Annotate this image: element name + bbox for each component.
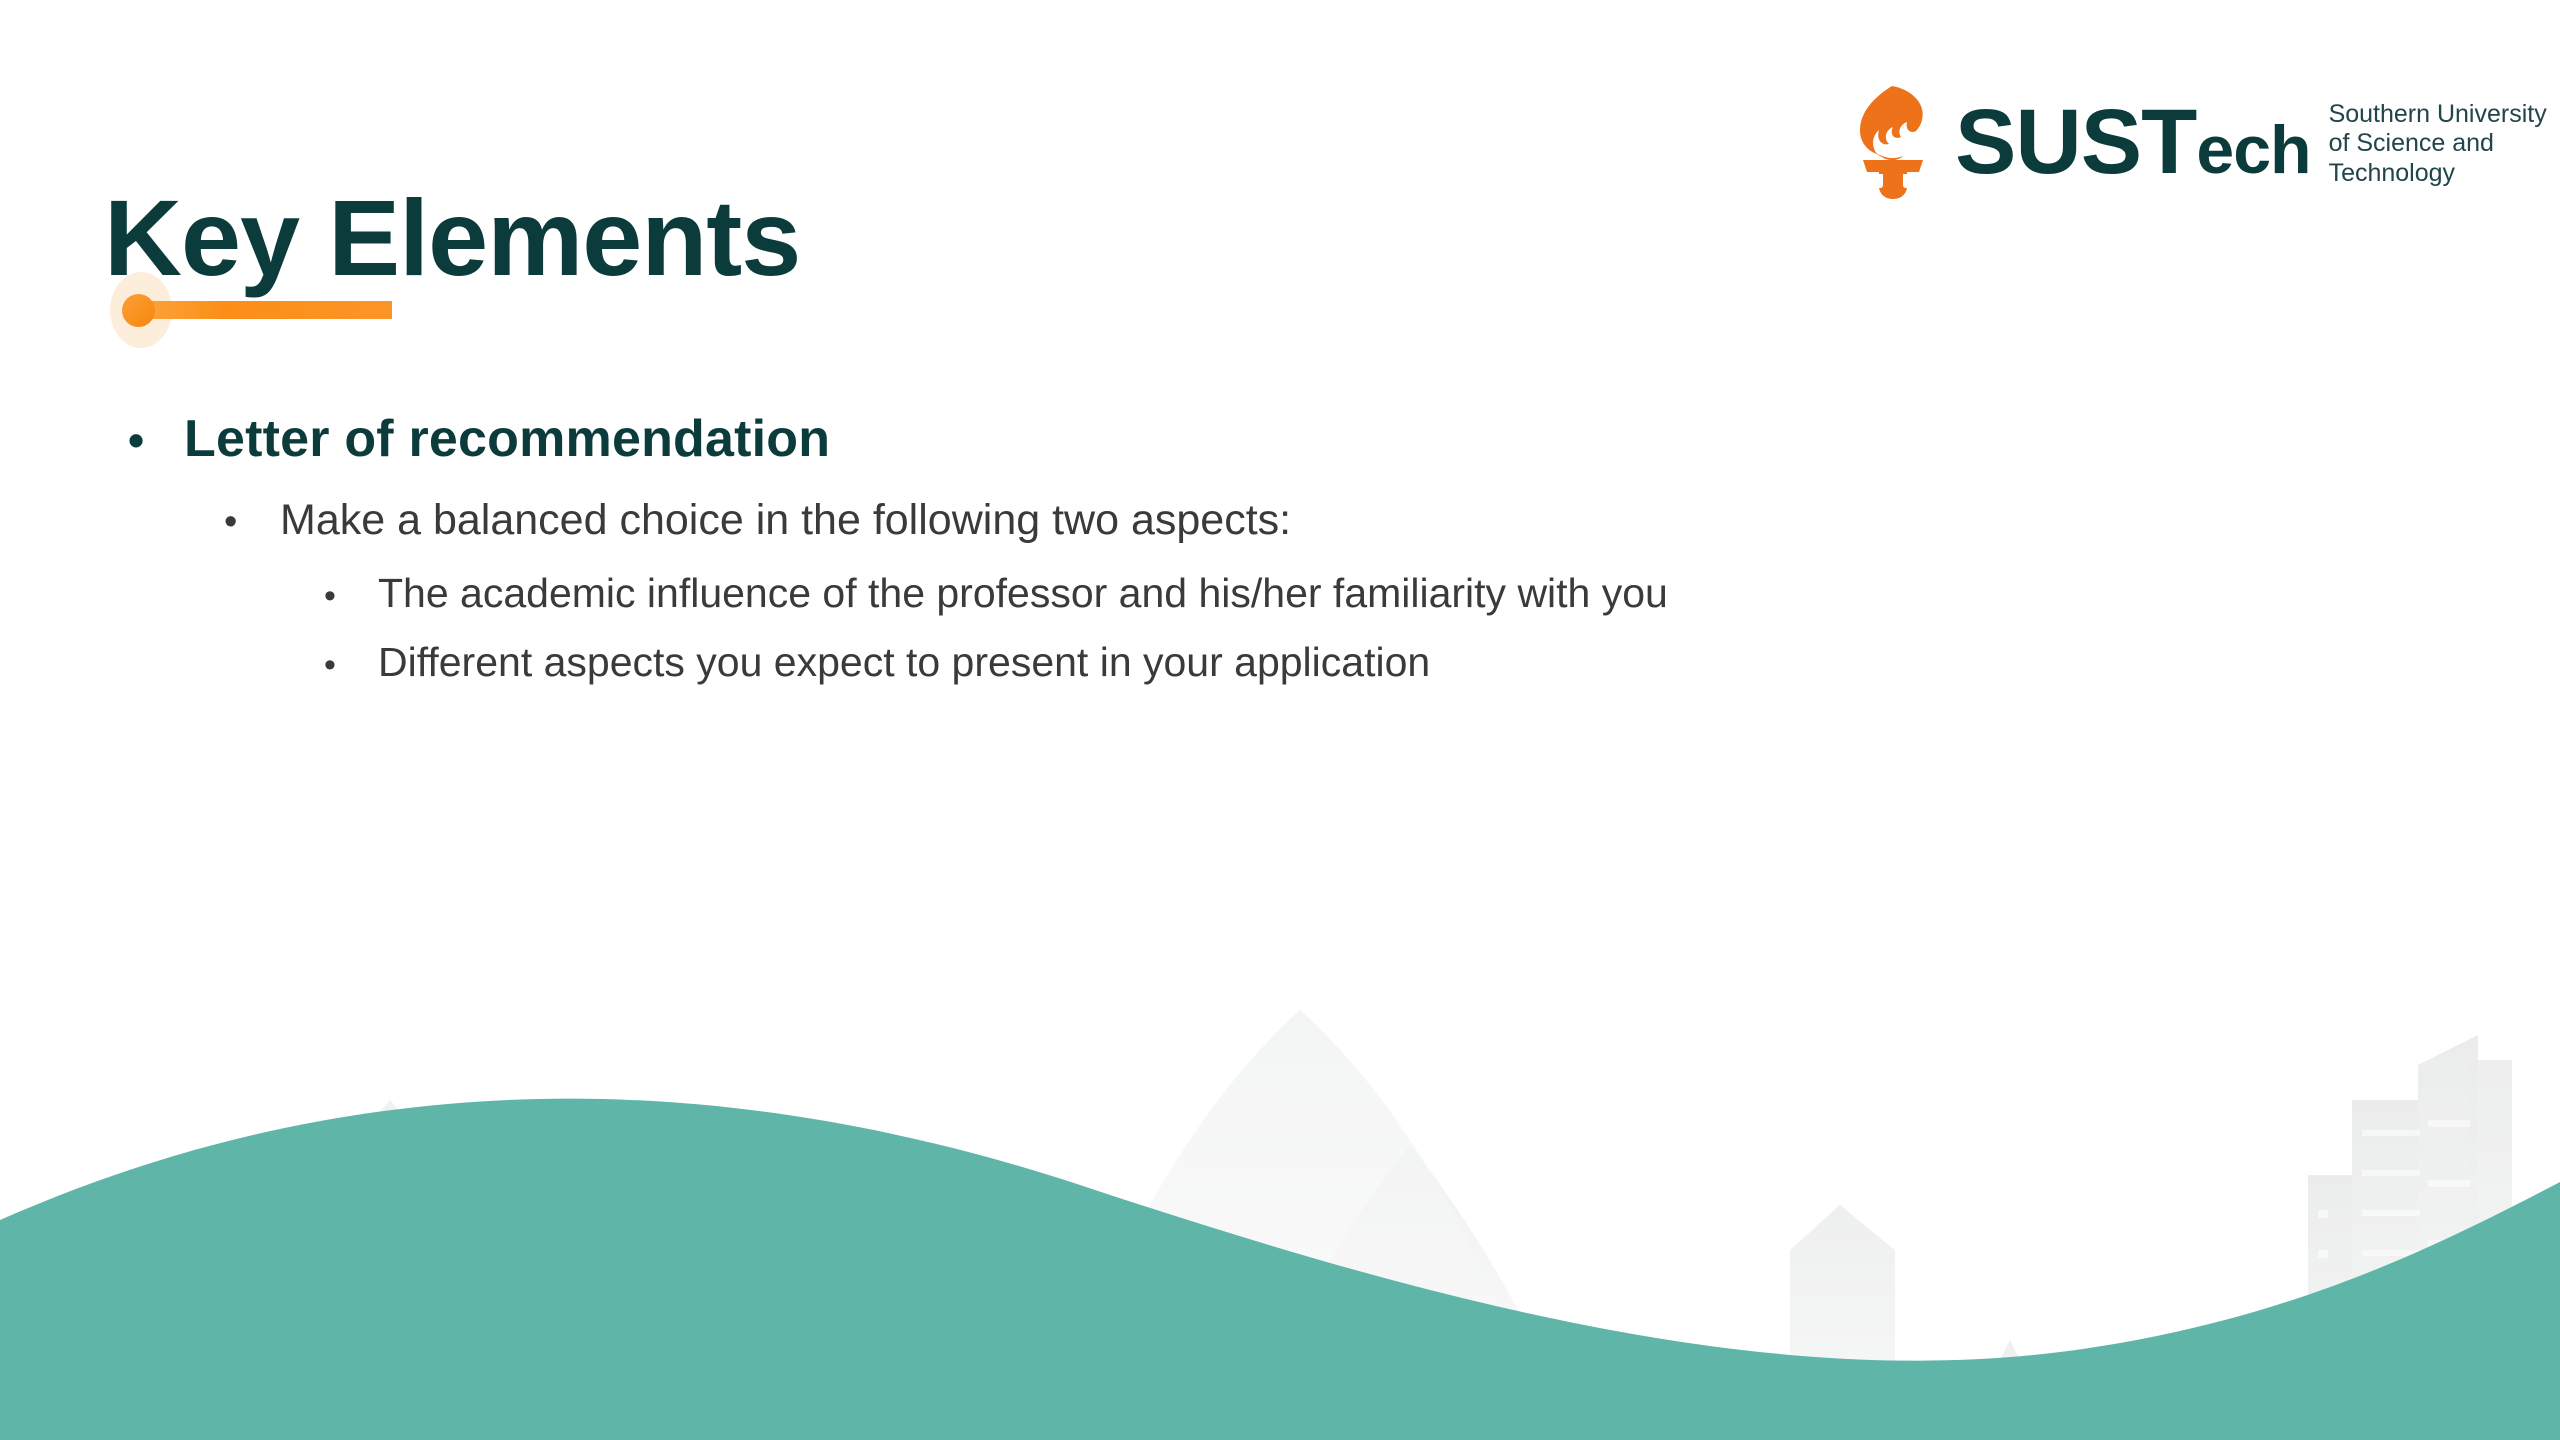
bullet-level3-item: • Different aspects you expect to presen…	[324, 637, 2400, 688]
logo-subtitle-line-1: Southern University	[2329, 100, 2547, 128]
bullet-level3-text: The academic influence of the professor …	[378, 568, 1668, 619]
accent-dot	[122, 294, 155, 327]
bullet-marker-icon: •	[324, 579, 378, 613]
logo-subtitle-line-2: of Science and	[2329, 129, 2494, 157]
campus-skyline-wave-artwork	[0, 920, 2560, 1440]
bullet-level1-text: Letter of recommendation	[184, 408, 830, 470]
slide-body: • Letter of recommendation • Make a bala…	[0, 408, 2400, 707]
accent-bar	[134, 301, 392, 319]
bullet-level2-text: Make a balanced choice in the following …	[280, 494, 1291, 548]
logo-subtitle: Southern University of Science and Techn…	[2329, 96, 2547, 189]
logo-wordmark-primary: SUST	[1955, 91, 2196, 193]
bullet-marker-icon: •	[324, 648, 378, 682]
logo-subtitle-line-3: Technology	[2329, 159, 2455, 187]
bullet-level1-item: • Letter of recommendation	[128, 408, 2400, 470]
title-underline-accent	[110, 272, 400, 348]
bullet-level2-item: • Make a balanced choice in the followin…	[224, 494, 2400, 548]
sustech-logo: SUSTech Southern University of Science a…	[1845, 82, 2547, 202]
sustech-torch-icon	[1845, 82, 1941, 202]
bullet-marker-icon: •	[128, 417, 184, 463]
mountain-silhouettes	[100, 1010, 2540, 1440]
slide-canvas: SUSTech Southern University of Science a…	[0, 0, 2560, 1440]
bullet-level3-item: • The academic influence of the professo…	[324, 568, 2400, 619]
bullet-marker-icon: •	[224, 503, 280, 541]
building-silhouettes	[845, 1205, 1895, 1440]
tower-silhouettes	[2308, 1035, 2512, 1440]
teal-wave	[0, 1099, 2560, 1440]
bullet-level3-text: Different aspects you expect to present …	[378, 637, 1430, 688]
logo-wordmark-secondary: ech	[2196, 112, 2310, 188]
logo-wordmark: SUSTech	[1955, 96, 2311, 188]
